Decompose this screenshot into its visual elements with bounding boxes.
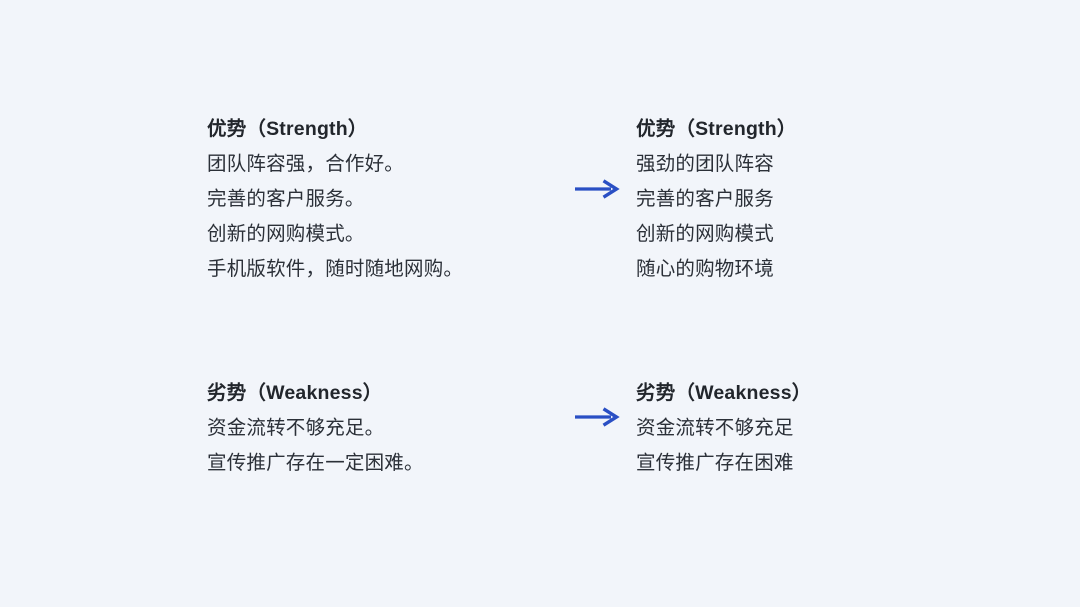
weakness-before-line-2: 宣传推广存在一定困难。 <box>207 446 558 481</box>
weakness-before-heading: 劣势（Weakness） <box>207 376 558 411</box>
strength-before-line-4: 手机版软件，随时随地网购。 <box>207 252 558 287</box>
weakness-before-line-1: 资金流转不够充足。 <box>207 411 558 446</box>
arrow-right-icon <box>574 178 620 200</box>
comparison-group-strength: 优势（Strength） 团队阵容强，合作好。 完善的客户服务。 创新的网购模式… <box>207 112 936 287</box>
strength-before-line-3: 创新的网购模式。 <box>207 217 558 252</box>
arrow-right-icon <box>574 406 620 428</box>
strength-before-column: 优势（Strength） 团队阵容强，合作好。 完善的客户服务。 创新的网购模式… <box>207 112 558 287</box>
weakness-arrow-cell <box>558 376 636 428</box>
weakness-after-line-1: 资金流转不够充足 <box>636 411 936 446</box>
weakness-after-heading: 劣势（Weakness） <box>636 376 936 411</box>
strength-before-heading: 优势（Strength） <box>207 112 558 147</box>
strength-after-heading: 优势（Strength） <box>636 112 936 147</box>
strength-after-line-1: 强劲的团队阵容 <box>636 147 936 182</box>
slide-canvas: 优势（Strength） 团队阵容强，合作好。 完善的客户服务。 创新的网购模式… <box>0 0 1080 607</box>
comparison-group-weakness: 劣势（Weakness） 资金流转不够充足。 宣传推广存在一定困难。 劣势（We… <box>207 376 936 481</box>
strength-after-line-2: 完善的客户服务 <box>636 182 936 217</box>
strength-after-line-4: 随心的购物环境 <box>636 252 936 287</box>
weakness-after-line-2: 宣传推广存在困难 <box>636 446 936 481</box>
strength-before-line-1: 团队阵容强，合作好。 <box>207 147 558 182</box>
strength-arrow-cell <box>558 112 636 200</box>
strength-before-line-2: 完善的客户服务。 <box>207 182 558 217</box>
strength-after-column: 优势（Strength） 强劲的团队阵容 完善的客户服务 创新的网购模式 随心的… <box>636 112 936 287</box>
strength-after-line-3: 创新的网购模式 <box>636 217 936 252</box>
weakness-after-column: 劣势（Weakness） 资金流转不够充足 宣传推广存在困难 <box>636 376 936 481</box>
weakness-before-column: 劣势（Weakness） 资金流转不够充足。 宣传推广存在一定困难。 <box>207 376 558 481</box>
